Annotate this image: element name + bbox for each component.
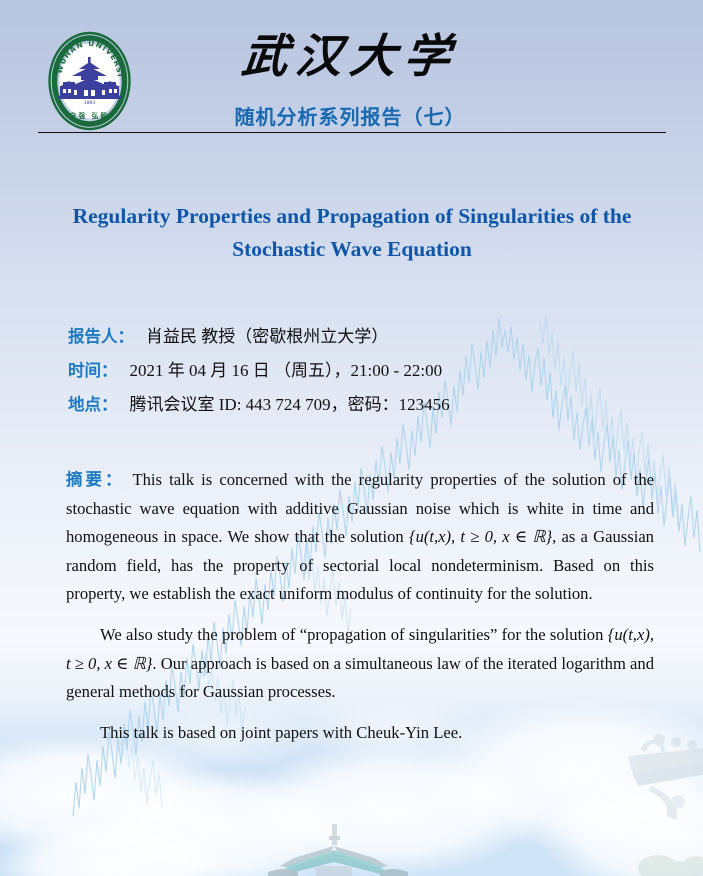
header-divider <box>38 132 666 133</box>
university-name-cn: 武汉大学 <box>178 34 523 80</box>
talk-title-line-1: Regularity Properties and Propagation of… <box>52 200 652 233</box>
time-label: 时间： <box>68 361 118 380</box>
info-row-time: 时间：2021 年 04 月 16 日 （周五），21:00 - 22:00 <box>68 359 648 383</box>
speaker-label: 报告人： <box>68 327 134 346</box>
abstract-paragraph-2: We also study the problem of “propagatio… <box>66 621 654 707</box>
seminar-poster: WUHAN UNIVERSITY <box>0 0 703 876</box>
talk-title-line-2: Stochastic Wave Equation <box>52 233 652 266</box>
location-value: 腾讯会议室 ID: 443 724 709，密码：123456 <box>130 395 450 414</box>
logo-motto-text: 自强 弘毅 <box>70 111 110 120</box>
logo-year-text: 1893 <box>84 100 95 106</box>
abstract-paragraph-3: This talk is based on joint papers with … <box>66 719 654 748</box>
location-label: 地点： <box>68 395 118 414</box>
seminar-series-title: 随机分析系列报告（七） <box>130 101 570 130</box>
abstract-section: 摘要：This talk is concerned with the regul… <box>66 466 654 759</box>
time-value: 2021 年 04 月 16 日 （周五），21:00 - 22:00 <box>130 361 443 380</box>
abstract-p1-formula: {u(t,x), t ≥ 0, x ∈ ℝ} <box>409 527 552 546</box>
wuhan-university-logo-icon: WUHAN UNIVERSITY <box>47 31 132 131</box>
info-row-speaker: 报告人：肖益民 教授（密歇根州立大学） <box>68 325 648 349</box>
talk-details: 报告人：肖益民 教授（密歇根州立大学） 时间：2021 年 04 月 16 日 … <box>68 325 648 427</box>
abstract-paragraph-1: 摘要：This talk is concerned with the regul… <box>66 466 654 609</box>
info-row-location: 地点：腾讯会议室 ID: 443 724 709，密码：123456 <box>68 393 648 417</box>
speaker-value: 肖益民 教授（密歇根州立大学） <box>146 327 388 346</box>
abstract-p2-after: . Our approach is based on a simultaneou… <box>66 654 654 702</box>
page-title: Regularity Properties and Propagation of… <box>52 200 652 266</box>
poster-header: WUHAN UNIVERSITY <box>0 0 703 140</box>
abstract-label: 摘要： <box>66 470 124 489</box>
abstract-p2-before: We also study the problem of “propagatio… <box>100 625 608 644</box>
